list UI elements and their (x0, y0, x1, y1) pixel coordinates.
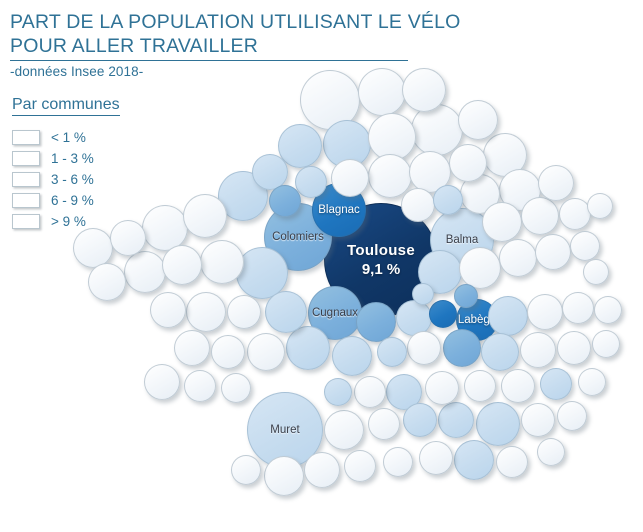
commune-bubble[interactable] (499, 239, 537, 277)
commune-bubble[interactable] (443, 329, 481, 367)
commune-bubble[interactable] (231, 455, 261, 485)
commune-bubble[interactable] (174, 330, 210, 366)
commune-bubble[interactable] (124, 251, 166, 293)
legend-item[interactable]: 3 - 6 % (12, 169, 120, 190)
commune-bubble[interactable] (482, 202, 522, 242)
commune-bubble[interactable] (412, 283, 434, 305)
title-divider (10, 60, 408, 61)
commune-bubble[interactable] (344, 450, 376, 482)
commune-bubble[interactable] (578, 368, 606, 396)
commune-bubble[interactable] (221, 373, 251, 403)
commune-bubble[interactable] (488, 296, 528, 336)
commune-bubble[interactable] (521, 197, 559, 235)
commune-bubble[interactable] (594, 296, 622, 324)
subtitle-source: -données Insee 2018- (10, 64, 490, 79)
commune-label: Blagnac (313, 204, 365, 216)
commune-label: Colomiers (265, 231, 331, 243)
legend-item-label: > 9 % (51, 214, 86, 229)
commune-bubble[interactable] (521, 403, 555, 437)
commune-bubble[interactable] (429, 300, 457, 328)
commune-bubble[interactable] (583, 259, 609, 285)
commune-bubble[interactable] (186, 292, 226, 332)
commune-bubble[interactable] (449, 144, 487, 182)
commune-bubble[interactable] (162, 245, 202, 285)
commune-bubble[interactable] (368, 408, 400, 440)
commune-bubble[interactable] (557, 331, 591, 365)
commune-bubble[interactable] (464, 370, 496, 402)
commune-bubble[interactable] (331, 159, 369, 197)
commune-bubble[interactable] (454, 440, 494, 480)
commune-bubble[interactable] (587, 193, 613, 219)
commune-bubble[interactable] (419, 441, 453, 475)
commune-bubble[interactable] (557, 401, 587, 431)
commune-bubble[interactable] (304, 452, 340, 488)
commune-label: Balma (431, 234, 493, 246)
commune-bubble[interactable] (324, 378, 352, 406)
commune-bubble[interactable] (354, 376, 386, 408)
commune-bubble[interactable] (383, 447, 413, 477)
legend-item[interactable]: < 1 % (12, 127, 120, 148)
commune-bubble[interactable] (144, 364, 180, 400)
commune-bubble[interactable] (211, 335, 245, 369)
commune-bubble[interactable] (540, 368, 572, 400)
legend-item[interactable]: 1 - 3 % (12, 148, 120, 169)
commune-bubble[interactable] (295, 166, 327, 198)
commune-bubble[interactable] (286, 326, 330, 370)
commune-label: Cugnaux (309, 307, 361, 319)
commune-bubble[interactable] (570, 231, 600, 261)
header: PART DE LA POPULATION UTLILISANT LE VÉLO… (10, 10, 490, 79)
legend-item-label: 1 - 3 % (51, 151, 94, 166)
commune-bubble[interactable] (433, 185, 463, 215)
commune-bubble[interactable] (324, 410, 364, 450)
commune-bubble[interactable] (527, 294, 563, 330)
commune-bubble[interactable] (458, 100, 498, 140)
commune-bubble[interactable] (265, 291, 307, 333)
commune-bubble[interactable] (537, 438, 565, 466)
page-title: PART DE LA POPULATION UTLILISANT LE VÉLO… (10, 10, 490, 58)
commune-bubble[interactable] (200, 240, 244, 284)
commune-bubble[interactable] (88, 263, 126, 301)
legend-swatch (12, 151, 40, 166)
commune-bubble[interactable] (438, 402, 474, 438)
commune-bubble[interactable] (184, 370, 216, 402)
commune-bubble[interactable] (356, 302, 396, 342)
commune-bubble[interactable] (73, 228, 113, 268)
commune-bubble[interactable] (264, 456, 304, 496)
legend-heading: Par communes (12, 96, 120, 116)
commune-bubble[interactable] (227, 295, 261, 329)
legend-item[interactable]: > 9 % (12, 211, 120, 232)
legend-item-label: < 1 % (51, 130, 86, 145)
commune-bubble[interactable] (559, 198, 591, 230)
infographic-root: Toulouse9,1 %MuretColomiersBalmaBlagnacC… (0, 0, 643, 532)
legend-item-label: 3 - 6 % (51, 172, 94, 187)
legend-swatch (12, 214, 40, 229)
bubble-cartogram: Toulouse9,1 %MuretColomiersBalmaBlagnacC… (0, 0, 643, 532)
commune-bubble[interactable] (368, 154, 412, 198)
commune-bubble[interactable] (592, 330, 620, 358)
commune-bubble[interactable] (332, 336, 372, 376)
commune-bubble[interactable] (269, 185, 301, 217)
commune-bubble[interactable] (425, 371, 459, 405)
toulouse-name: Toulouse (325, 242, 437, 259)
commune-bubble[interactable] (247, 333, 285, 371)
commune-bubble[interactable] (562, 292, 594, 324)
commune-bubble[interactable] (481, 333, 519, 371)
commune-bubble[interactable] (496, 446, 528, 478)
legend-swatch (12, 130, 40, 145)
commune-bubble[interactable] (407, 331, 441, 365)
legend: Par communes < 1 %1 - 3 %3 - 6 %6 - 9 %>… (12, 96, 120, 232)
commune-bubble[interactable] (183, 194, 227, 238)
commune-bubble[interactable] (454, 284, 478, 308)
legend-item[interactable]: 6 - 9 % (12, 190, 120, 211)
legend-swatch (12, 193, 40, 208)
legend-items: < 1 %1 - 3 %3 - 6 %6 - 9 %> 9 % (12, 127, 120, 232)
commune-bubble[interactable] (520, 332, 556, 368)
commune-bubble[interactable] (403, 403, 437, 437)
commune-bubble[interactable] (150, 292, 186, 328)
legend-item-label: 6 - 9 % (51, 193, 94, 208)
commune-bubble[interactable] (476, 402, 520, 446)
commune-bubble[interactable] (535, 234, 571, 270)
commune-bubble[interactable] (501, 369, 535, 403)
legend-swatch (12, 172, 40, 187)
commune-bubble[interactable] (401, 188, 435, 222)
commune-label: Muret (248, 424, 322, 436)
commune-bubble[interactable] (538, 165, 574, 201)
commune-bubble[interactable] (459, 247, 501, 289)
commune-bubble[interactable] (377, 337, 407, 367)
